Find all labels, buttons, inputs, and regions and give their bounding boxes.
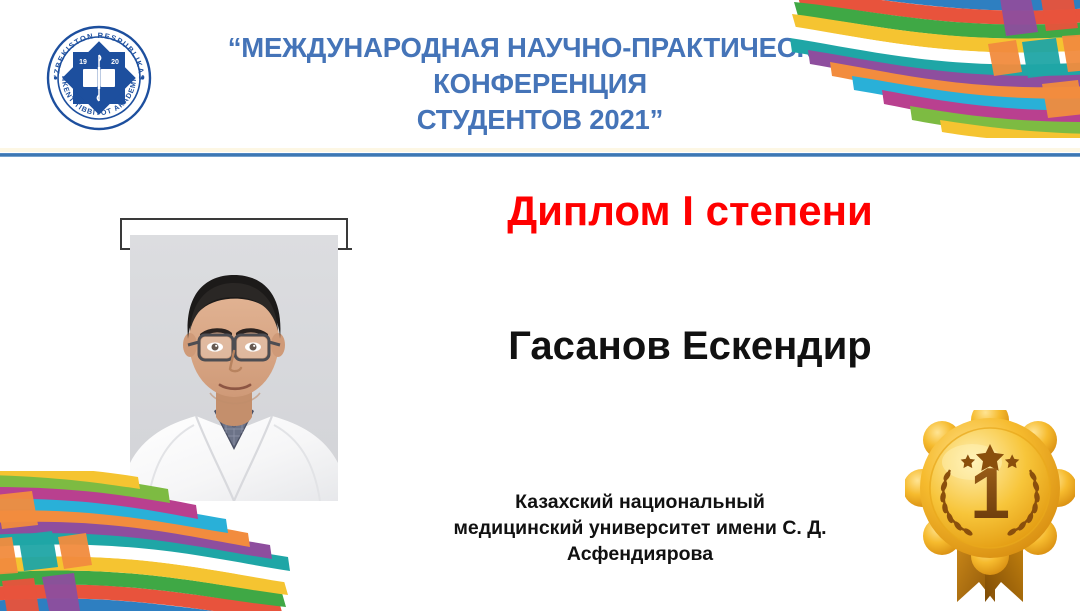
recipient-name: Гасанов Ескендир bbox=[440, 322, 940, 370]
medal-place-number: 1 bbox=[970, 454, 1010, 534]
affiliation-line-1: Казахский национальный bbox=[415, 489, 865, 515]
university-seal-icon: O'ZBEKISTON RESPUBLIKASI TOSHKENT TIBBIY… bbox=[45, 24, 153, 132]
affiliation-line-2: медицинский университет имени С. Д. bbox=[415, 515, 865, 541]
header-divider bbox=[0, 153, 1080, 157]
svg-text:19: 19 bbox=[79, 59, 87, 66]
affiliation-line-3: Асфендиярова bbox=[415, 541, 865, 567]
gold-medal-rosette-icon: 1 bbox=[905, 410, 1075, 608]
svg-text:20: 20 bbox=[111, 59, 119, 66]
certificate-header: O'ZBEKISTON RESPUBLIKASI TOSHKENT TIBBIY… bbox=[0, 0, 1080, 150]
recipient-photo bbox=[130, 235, 338, 501]
conference-title: “МЕЖДУНАРОДНАЯ НАУЧНО-ПРАКТИЧЕСКАЯ КОНФЕ… bbox=[175, 30, 905, 138]
diploma-certificate: O'ZBEKISTON RESPUBLIKASI TOSHKENT TIBBIY… bbox=[0, 0, 1080, 611]
recipient-photo-block bbox=[120, 218, 352, 503]
conference-title-line-2: КОНФЕРЕНЦИЯ bbox=[175, 66, 905, 102]
award-title: Диплом I степени bbox=[440, 186, 940, 236]
conference-title-line-3: СТУДЕНТОВ 2021” bbox=[175, 102, 905, 138]
header-divider-highlight bbox=[0, 148, 1080, 152]
recipient-affiliation: Казахский национальный медицинский униве… bbox=[415, 489, 865, 567]
conference-title-line-1: “МЕЖДУНАРОДНАЯ НАУЧНО-ПРАКТИЧЕСКАЯ bbox=[175, 30, 905, 66]
